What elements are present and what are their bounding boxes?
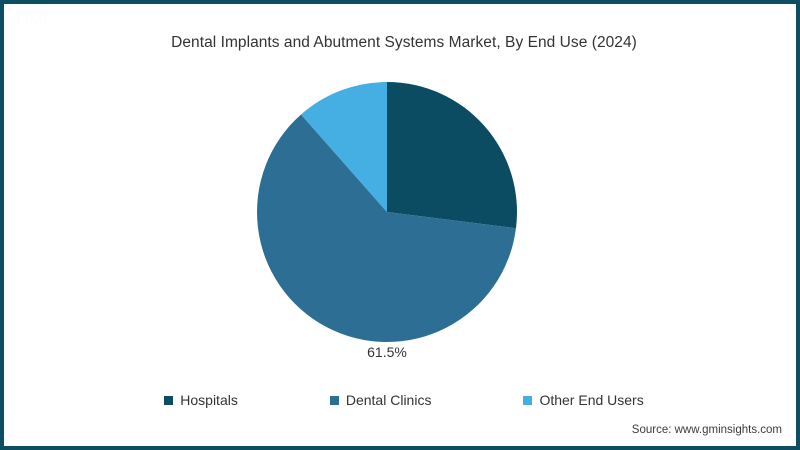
legend-item-other-end-users[interactable]: Other End Users <box>523 392 643 408</box>
page-title: Dental Implants and Abutment Systems Mar… <box>4 34 800 52</box>
chart-frame: GMI Dental Implants and Abutment Systems… <box>0 0 800 450</box>
source-attribution: Source: www.gminsights.com <box>632 424 782 436</box>
legend-swatch-icon <box>330 396 339 405</box>
pie-slice-group <box>257 82 517 342</box>
pie-slice-hospitals[interactable] <box>387 82 517 228</box>
pie-chart-svg <box>256 81 518 343</box>
pie-slice-value-label: 61.5% <box>307 344 467 360</box>
pie-chart <box>256 81 518 343</box>
legend-item-dental-clinics[interactable]: Dental Clinics <box>330 392 432 408</box>
legend-item-hospitals[interactable]: Hospitals <box>164 392 238 408</box>
legend-item-label: Other End Users <box>539 392 643 408</box>
legend-swatch-icon <box>164 396 173 405</box>
legend-swatch-icon <box>523 396 532 405</box>
chart-legend: Hospitals Dental Clinics Other End Users <box>4 392 800 408</box>
legend-item-label: Dental Clinics <box>346 392 432 408</box>
legend-item-label: Hospitals <box>180 392 238 408</box>
